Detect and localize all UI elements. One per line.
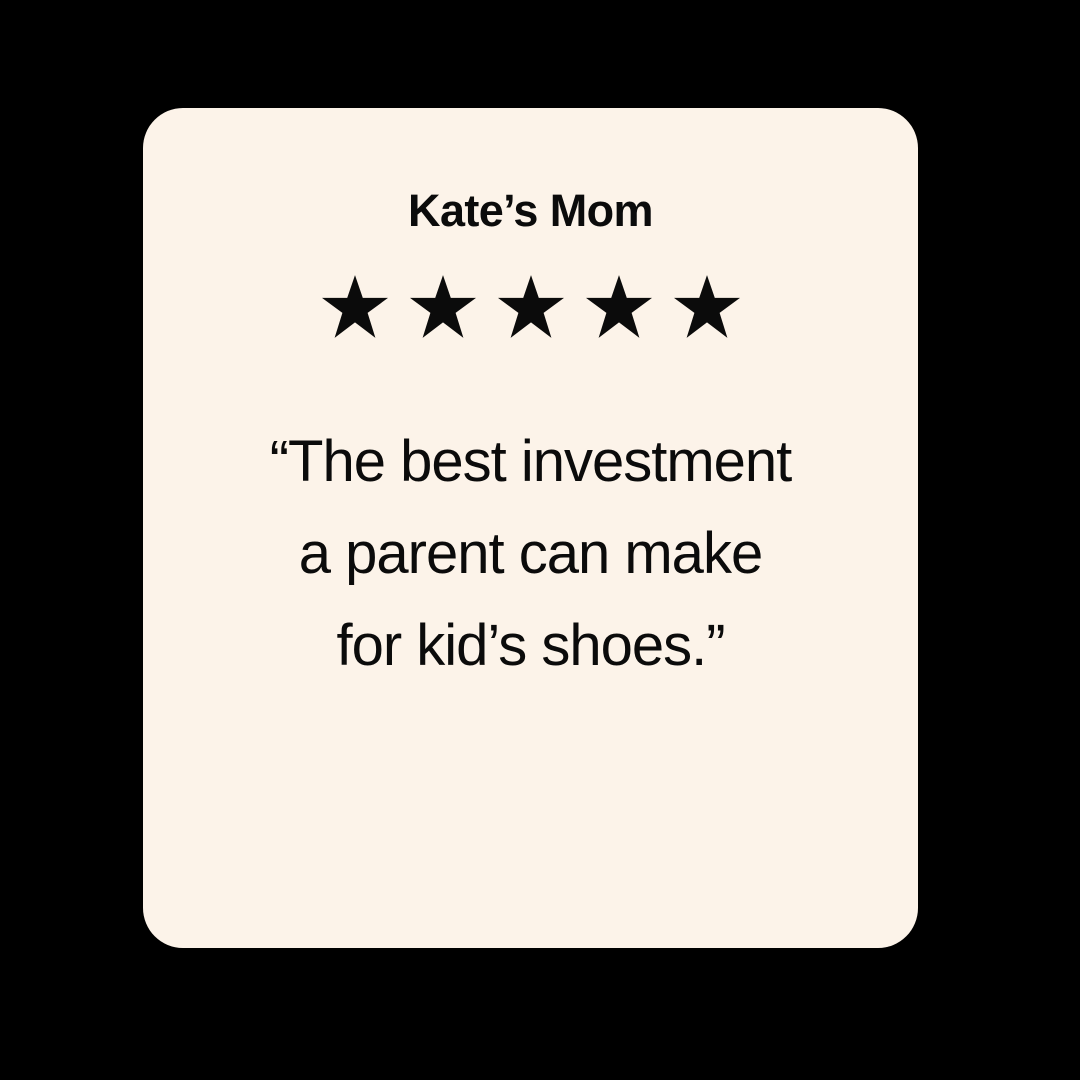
quote-line: a parent can make: [201, 508, 861, 600]
star-rating: [322, 275, 740, 338]
quote-line: for kid’s shoes.”: [201, 600, 861, 692]
testimonial-quote: “The best investment a parent can make f…: [201, 416, 861, 692]
testimonial-card: Kate’s Mom: [143, 108, 918, 948]
quote-line: “The best investment: [201, 416, 861, 508]
star-icon: [498, 275, 564, 338]
star-icon: [674, 275, 740, 338]
star-icon: [586, 275, 652, 338]
star-icon: [322, 275, 388, 338]
star-icon: [410, 275, 476, 338]
testimonial-canvas: Kate’s Mom: [0, 0, 1080, 1080]
reviewer-name: Kate’s Mom: [408, 188, 653, 233]
